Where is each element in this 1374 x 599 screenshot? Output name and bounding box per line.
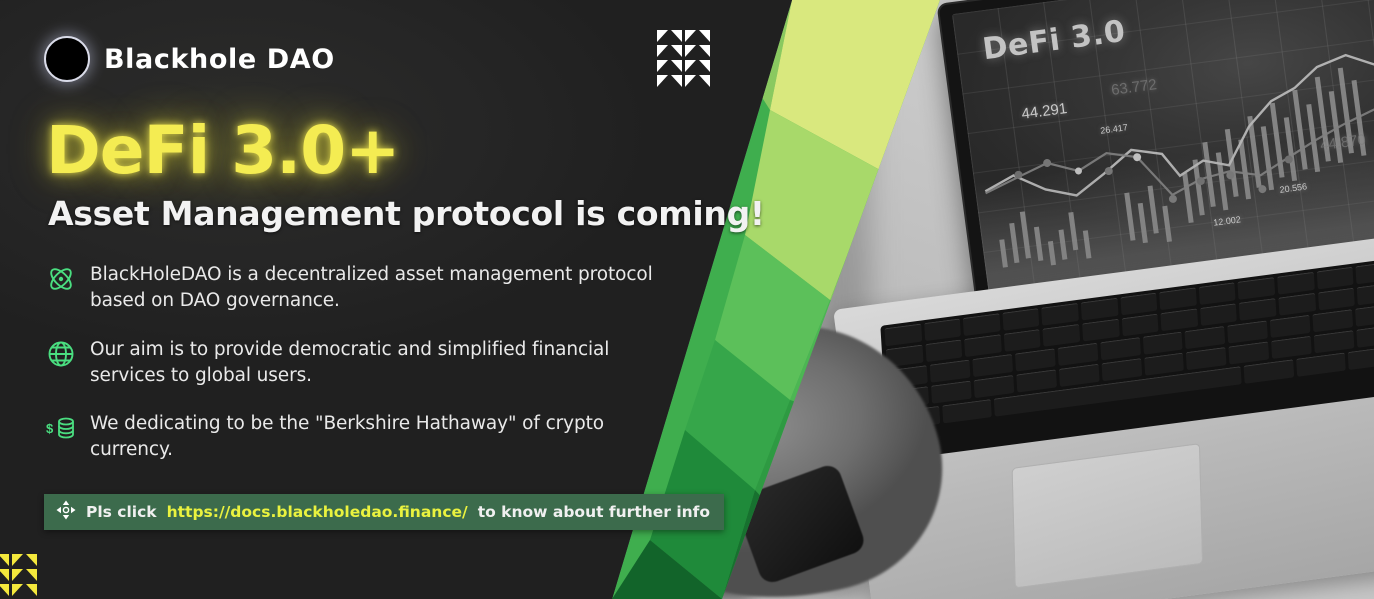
list-item: Our aim is to provide democratic and sim… (46, 337, 666, 390)
atom-icon (46, 264, 76, 294)
triangle-grid-icon-bottom-left (0, 552, 42, 599)
list-item: $ We dedicating to be the "Berkshire Hat… (46, 411, 666, 464)
black-circle-logo-icon (44, 36, 90, 82)
list-item: BlackHoleDAO is a decentralized asset ma… (46, 262, 666, 315)
list-item-label: BlackHoleDAO is a decentralized asset ma… (90, 262, 666, 315)
four-way-arrow-icon (56, 500, 76, 525)
laptop-trackpad (1012, 443, 1204, 588)
feature-list: BlackHoleDAO is a decentralized asset ma… (46, 262, 666, 486)
cta-suffix: to know about further info (478, 503, 710, 521)
triangle-grid-icon-top-right (657, 28, 715, 95)
globe-icon (46, 339, 76, 369)
brand-name: Blackhole DAO (104, 44, 335, 75)
promo-banner: DeFi 3.0 44.291 63.772 26.417 44.870 20.… (0, 0, 1374, 599)
cta-link[interactable]: https://docs.blackholedao.finance/ (167, 503, 468, 521)
page-subtitle: Asset Management protocol is coming! (48, 194, 765, 233)
cta-bar[interactable]: Pls click https://docs.blackholedao.fina… (44, 494, 724, 530)
page-title: DeFi 3.0+ (46, 112, 399, 189)
coin-stack-dollar-icon: $ (46, 413, 76, 443)
svg-text:$: $ (46, 421, 54, 436)
brand-logo[interactable]: Blackhole DAO (44, 36, 335, 82)
list-item-label: Our aim is to provide democratic and sim… (90, 337, 666, 390)
cta-prefix: Pls click (86, 503, 157, 521)
list-item-label: We dedicating to be the "Berkshire Hatha… (90, 411, 666, 464)
